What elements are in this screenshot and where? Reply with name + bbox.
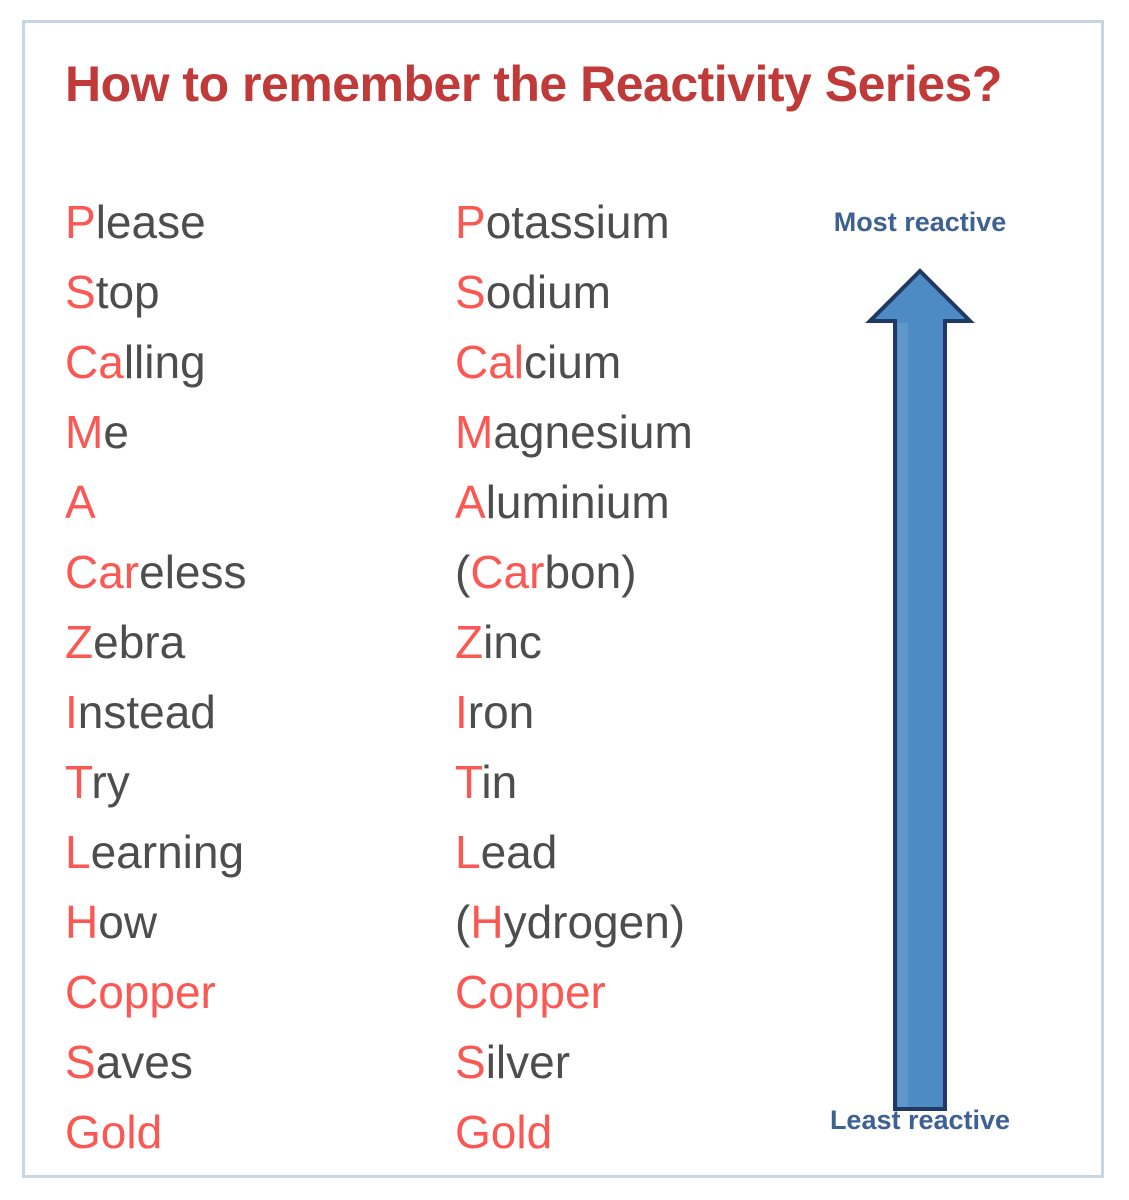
element-name: Iron [455,677,534,747]
element-symbol-highlight: L [455,826,481,878]
element-symbol-highlight: Cal [455,336,524,388]
mnemonic-remainder: top [96,266,160,318]
element-name: Zinc [455,607,542,677]
mnemonic-highlight: Copper [65,966,216,1018]
series-row: Careless(Carbon) [65,537,825,607]
element-symbol-highlight: Gold [455,1106,552,1158]
element-remainder: in [481,756,517,808]
element-symbol-highlight: P [455,196,486,248]
series-row: CallingCalcium [65,327,825,397]
element-remainder: ead [481,826,558,878]
element-remainder: inc [483,616,542,668]
element-name: Copper [455,957,606,1027]
element-name: Lead [455,817,557,887]
element-remainder: ydrogen [504,896,670,948]
series-row: AAluminium [65,467,825,537]
up-arrow-icon [770,265,1070,1115]
series-row: TryTin [65,747,825,817]
element-symbol-highlight: M [455,406,493,458]
mnemonic-highlight: S [65,266,96,318]
mnemonic-remainder: nstead [78,686,216,738]
series-row: StopSodium [65,257,825,327]
mnemonic-highlight: Gold [65,1106,162,1158]
element-symbol-highlight: Z [455,616,483,668]
mnemonic-remainder: lease [96,196,206,248]
least-reactive-label: Least reactive [770,1105,1070,1136]
element-name: Gold [455,1097,552,1167]
series-row: LearningLead [65,817,825,887]
series-row: GoldGold [65,1097,825,1167]
element-open-paren: ( [455,896,470,948]
most-reactive-label: Most reactive [770,207,1070,238]
mnemonic-highlight: L [65,826,91,878]
element-symbol-highlight: S [455,1036,486,1088]
element-name: Tin [455,747,517,817]
up-arrow-shape [870,271,970,1109]
element-symbol-highlight: I [455,686,468,738]
mnemonic-word: Me [65,397,129,467]
mnemonic-highlight: T [65,756,91,808]
element-name: Potassium [455,187,670,257]
arrow-shaft-highlight [898,323,908,1107]
series-row: SavesSilver [65,1027,825,1097]
element-remainder: ilver [486,1036,570,1088]
element-symbol-highlight: A [455,476,486,528]
element-remainder: bon [544,546,621,598]
element-remainder: cium [524,336,621,388]
mnemonic-remainder: e [103,406,129,458]
mnemonic-word: Gold [65,1097,162,1167]
mnemonic-remainder: ebra [93,616,185,668]
mnemonic-highlight: S [65,1036,96,1088]
element-remainder: ron [468,686,534,738]
mnemonic-word: Calling [65,327,206,397]
element-symbol-highlight: T [455,756,481,808]
reactivity-arrow-block: Most reactive Least reactive [770,187,1070,1147]
mnemonic-word: How [65,887,157,957]
mnemonic-word: Learning [65,817,244,887]
element-name: (Carbon) [455,537,637,607]
element-name: Sodium [455,257,611,327]
series-row: CopperCopper [65,957,825,1027]
mnemonic-word: Careless [65,537,247,607]
page-title: How to remember the Reactivity Series? [65,55,1002,113]
element-symbol-highlight: H [470,896,503,948]
element-symbol-highlight: S [455,266,486,318]
element-symbol-highlight: Car [470,546,544,598]
element-remainder: odium [486,266,611,318]
element-name: Silver [455,1027,570,1097]
mnemonic-remainder: ow [98,896,157,948]
mnemonic-highlight: P [65,196,96,248]
element-name: Aluminium [455,467,670,537]
series-row: InsteadIron [65,677,825,747]
mnemonic-highlight: A [65,476,96,528]
mnemonic-word: Zebra [65,607,185,677]
series-row: ZebraZinc [65,607,825,677]
series-row: How(Hydrogen) [65,887,825,957]
mnemonic-highlight: Z [65,616,93,668]
mnemonic-word: Stop [65,257,160,327]
mnemonic-remainder: aves [96,1036,193,1088]
mnemonic-word: Please [65,187,206,257]
mnemonic-word: Copper [65,957,216,1027]
mnemonic-highlight: M [65,406,103,458]
mnemonic-remainder: lling [124,336,206,388]
element-remainder: otassium [486,196,670,248]
mnemonic-highlight: Ca [65,336,124,388]
element-symbol-highlight: Copper [455,966,606,1018]
element-close-paren: ) [621,546,636,598]
mnemonic-word: Instead [65,677,216,747]
element-name: Calcium [455,327,621,397]
series-row: MeMagnesium [65,397,825,467]
element-remainder: luminium [486,476,670,528]
series-row: PleasePotassium [65,187,825,257]
mnemonic-highlight: H [65,896,98,948]
element-close-paren: ) [670,896,685,948]
mnemonic-word: Try [65,747,130,817]
element-name: (Hydrogen) [455,887,685,957]
series-columns: PleasePotassiumStopSodiumCallingCalciumM… [65,187,825,1167]
reactivity-series-card: How to remember the Reactivity Series? P… [22,20,1104,1178]
element-remainder: agnesium [493,406,692,458]
element-open-paren: ( [455,546,470,598]
mnemonic-highlight: I [65,686,78,738]
mnemonic-highlight: Car [65,546,139,598]
mnemonic-word: A [65,467,96,537]
mnemonic-remainder: eless [139,546,246,598]
mnemonic-remainder: earning [91,826,244,878]
mnemonic-remainder: ry [91,756,129,808]
element-name: Magnesium [455,397,693,467]
mnemonic-word: Saves [65,1027,193,1097]
